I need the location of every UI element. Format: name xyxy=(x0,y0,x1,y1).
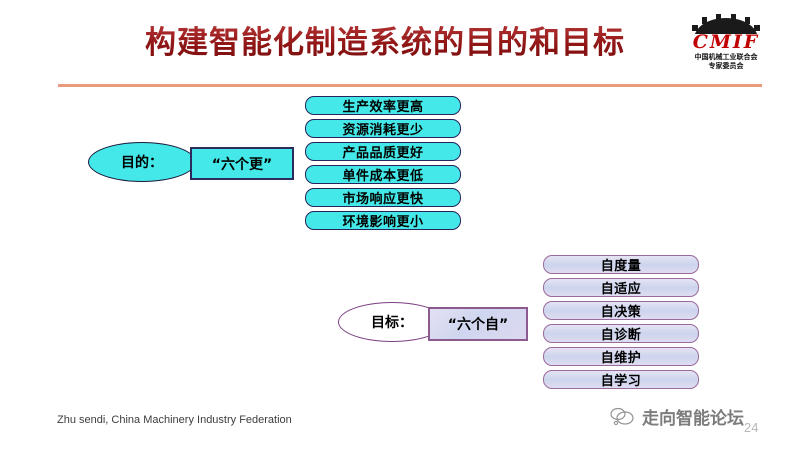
list-item: 环境影响更小 xyxy=(305,211,461,230)
item-stack-goal: 自度量 自适应 自决策 自诊断 自维护 自学习 xyxy=(543,255,699,393)
svg-text:中国机械工业联合会: 中国机械工业联合会 xyxy=(695,52,759,61)
list-item: 自决策 xyxy=(543,301,699,320)
key-phrase-goal: “六个自” xyxy=(428,307,528,341)
page-number: 24 xyxy=(744,420,758,435)
item-stack-purpose: 生产效率更高 资源消耗更少 产品品质更好 单件成本更低 市场响应更快 环境影响更… xyxy=(305,96,461,234)
svg-text:专家委员会: 专家委员会 xyxy=(709,61,745,70)
watermark-text: 走向智能论坛 xyxy=(642,404,744,429)
list-item: 自适应 xyxy=(543,278,699,297)
title-divider xyxy=(58,84,762,87)
author-credit: Zhu sendi, China Machinery Industry Fede… xyxy=(57,414,292,426)
watermark: 走向智能论坛 xyxy=(608,404,744,429)
list-item: 自度量 xyxy=(543,255,699,274)
list-item: 资源消耗更少 xyxy=(305,119,461,138)
list-item: 产品品质更好 xyxy=(305,142,461,161)
cmif-logo: CMIF 中国机械工业联合会 专家委员会 xyxy=(672,12,780,70)
list-item: 生产效率更高 xyxy=(305,96,461,115)
cloud-chat-icon xyxy=(608,405,636,429)
group-label-purpose: 目的： xyxy=(88,142,196,182)
list-item: 市场响应更快 xyxy=(305,188,461,207)
key-phrase-purpose: “六个更” xyxy=(190,147,294,180)
list-item: 自诊断 xyxy=(543,324,699,343)
list-item: 自学习 xyxy=(543,370,699,389)
list-item: 单件成本更低 xyxy=(305,165,461,184)
page-title: 构建智能化制造系统的目的和目标 xyxy=(120,26,650,62)
list-item: 自维护 xyxy=(543,347,699,366)
svg-text:CMIF: CMIF xyxy=(693,31,760,53)
slide-canvas: 构建智能化制造系统的目的和目标 CMIF 中国机械工业联合会 专家委员会 目的： xyxy=(0,0,800,450)
